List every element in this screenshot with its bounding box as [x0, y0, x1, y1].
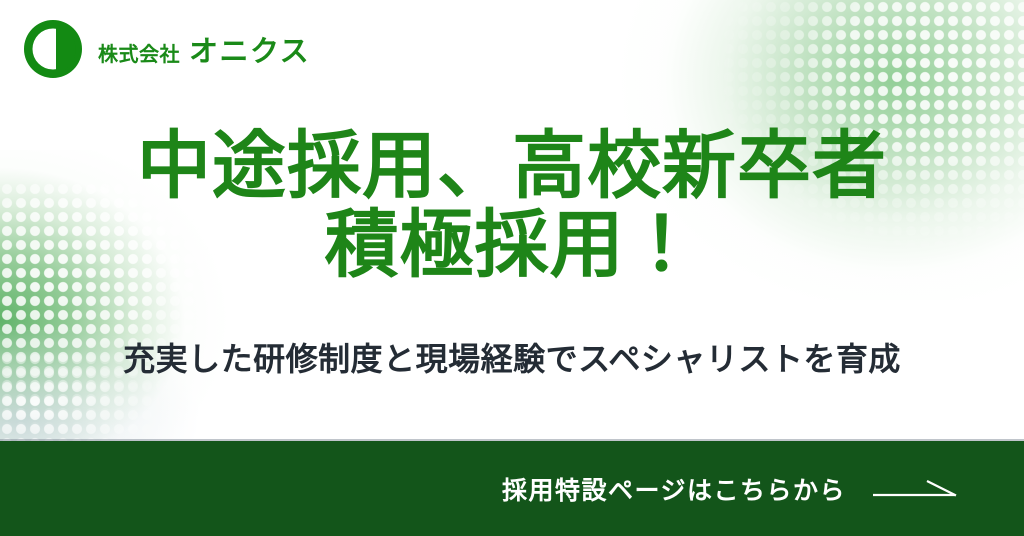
- company-logo[interactable]: 株式会社 オニクス: [22, 18, 310, 80]
- logo-company-name: オニクス: [189, 28, 310, 70]
- headline-line-2: 積極採用！: [0, 205, 1024, 284]
- onyx-leaf-circle-logo-icon: [22, 18, 84, 80]
- logo-wordmark: 株式会社 オニクス: [98, 28, 310, 70]
- headline-line-1: 中途採用、高校新卒者: [0, 126, 1024, 205]
- recruitment-page-link[interactable]: 採用特設ページはこちらから: [502, 471, 958, 507]
- logo-company-prefix: 株式会社: [98, 38, 180, 67]
- recruitment-banner: 株式会社 オニクス 中途採用、高校新卒者 積極採用！ 充実した研修制度と現場経験…: [0, 0, 1024, 536]
- subheading: 充実した研修制度と現場経験でスペシャリストを育成: [0, 334, 1024, 380]
- arrow-right-icon: [872, 476, 958, 502]
- cta-bar: 採用特設ページはこちらから: [0, 441, 1024, 536]
- headline: 中途採用、高校新卒者 積極採用！: [0, 126, 1024, 284]
- cta-label: 採用特設ページはこちらから: [502, 471, 846, 507]
